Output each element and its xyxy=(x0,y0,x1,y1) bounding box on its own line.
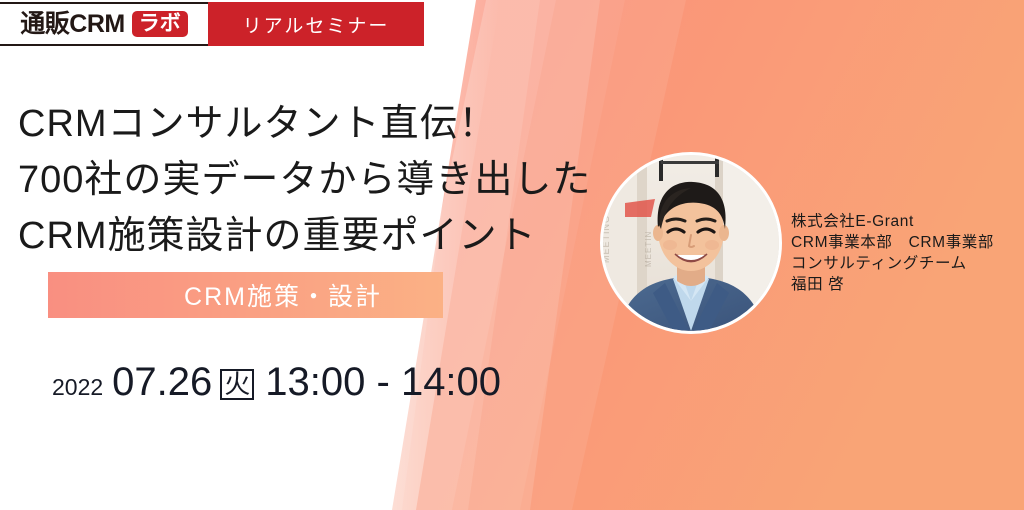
schedule-year: 2022 xyxy=(52,374,103,401)
speaker-photo: MEETING MEETIN xyxy=(603,155,779,331)
seminar-banner: 通販CRMラボ リアルセミナー CRMコンサルタント直伝！ 700社の実データか… xyxy=(0,0,1024,510)
title-line-1: CRMコンサルタント直伝！ xyxy=(18,96,591,152)
logo-box: 通販CRMラボ xyxy=(0,2,208,46)
schedule-day-of-week: 火 xyxy=(220,369,254,400)
schedule-date: 07.26 xyxy=(112,360,212,405)
category-badge-label: CRM施策・設計 xyxy=(184,277,382,313)
speaker-name: 福田 啓 xyxy=(791,274,994,295)
page-title: CRMコンサルタント直伝！ 700社の実データから導き出した CRM施策設計の重… xyxy=(18,96,591,264)
schedule-line: 2022 07.26 火 13:00 - 14:00 xyxy=(52,360,501,405)
title-line-3: CRM施策設計の重要ポイント xyxy=(18,208,591,264)
speaker-division: CRM事業本部 CRM事業部 xyxy=(791,232,994,253)
logo-main-text: 通販CRM xyxy=(20,10,124,38)
speaker-info: 株式会社E-Grant CRM事業本部 CRM事業部 コンサルティングチーム 福… xyxy=(791,211,994,295)
speaker-company: 株式会社E-Grant xyxy=(791,211,994,232)
logo-badge: ラボ xyxy=(132,11,188,37)
seminar-type-label: リアルセミナー xyxy=(208,2,424,46)
category-badge: CRM施策・設計 xyxy=(48,272,443,318)
svg-text:MEETING: MEETING xyxy=(603,215,611,263)
speaker-avatar: MEETING MEETIN xyxy=(600,152,782,334)
logo-text: 通販CRMラボ xyxy=(20,11,187,37)
title-line-2: 700社の実データから導き出した xyxy=(18,152,591,208)
schedule-time: 13:00 - 14:00 xyxy=(265,360,501,405)
speaker-team: コンサルティングチーム xyxy=(791,253,994,274)
svg-text:MEETIN: MEETIN xyxy=(644,231,653,267)
